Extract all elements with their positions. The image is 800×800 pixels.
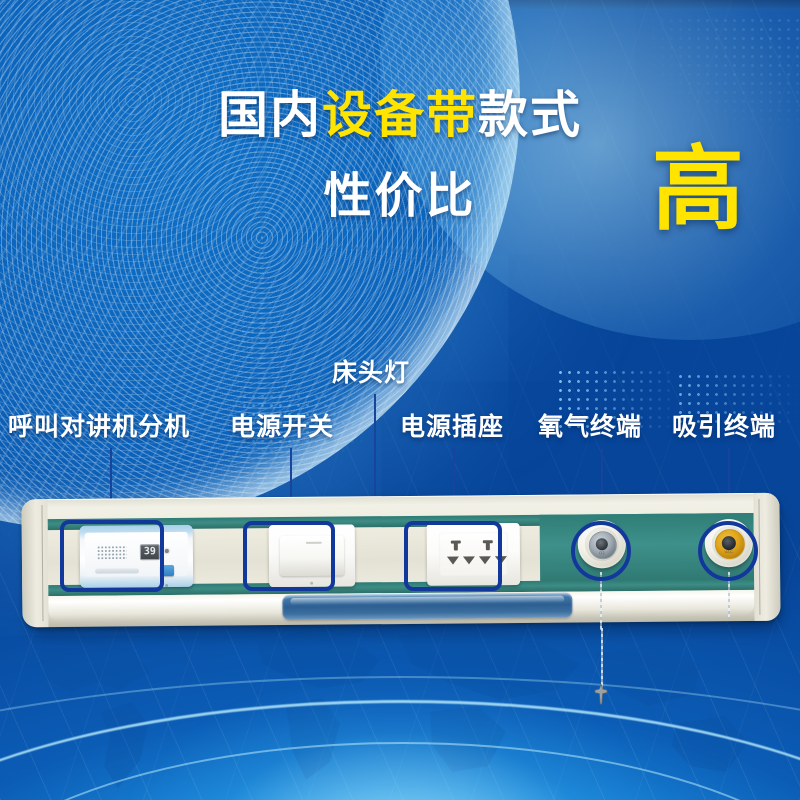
headline-emphasis-gao: 高: [652, 144, 744, 236]
highlight-box-power-switch: [243, 521, 335, 591]
status-led-icon: [165, 549, 169, 553]
callout-label-oxygen: 氧气终端: [538, 412, 642, 442]
subheadline-text: 性价比: [323, 170, 476, 223]
intercom-screw: [165, 584, 168, 587]
highlight-circle-suction: [698, 521, 758, 581]
halftone-dots-mid: [176, 282, 296, 372]
endcap-seam-right: [758, 499, 760, 615]
headline-part2: 设备带: [322, 87, 478, 143]
headline: 国内设备带款式: [0, 86, 800, 144]
pull-cord-weight-icon: [594, 684, 608, 706]
oxygen-pull-cord-lower[interactable]: [601, 628, 603, 692]
panel-endcap-left: [21, 499, 48, 627]
callout-label-intercom: 呼叫对讲机分机: [8, 412, 190, 442]
highlight-circle-oxygen: [571, 521, 631, 581]
callout-label-power-socket: 电源插座: [400, 412, 504, 442]
headline-part1: 国内: [218, 87, 322, 143]
highlight-box-intercom: [60, 520, 164, 592]
highlight-box-power-socket: [404, 521, 502, 591]
callout-label-power-switch: 电源开关: [230, 412, 334, 442]
panel-endcap-right: [753, 493, 780, 621]
headline-part3: 款式: [478, 87, 582, 143]
callout-label-bed-lamp: 床头灯: [332, 358, 410, 388]
poster-canvas: 国内设备带款式 性价比 高 呼叫对讲机分机 电源开关 床头灯 电源插座 氧气终端…: [0, 0, 800, 800]
callout-label-suction: 吸引终端: [672, 412, 776, 442]
endcap-seam-left: [41, 505, 43, 621]
